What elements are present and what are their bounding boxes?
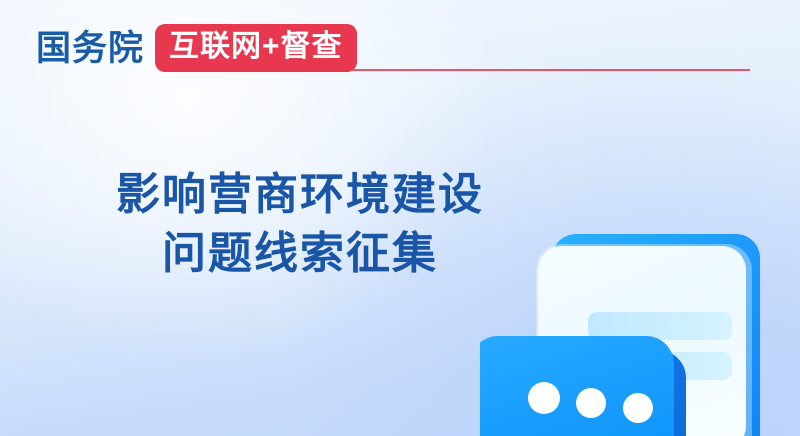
banner-header: 国务院 互联网+督查 bbox=[36, 24, 357, 72]
small-chat-bubble bbox=[480, 336, 686, 436]
message-line-1 bbox=[588, 312, 732, 340]
typing-dot-1 bbox=[528, 382, 560, 414]
organization-name: 国务院 bbox=[36, 31, 144, 66]
program-badge: 互联网+督查 bbox=[155, 24, 357, 72]
chat-bubbles-illustration bbox=[480, 200, 800, 436]
campaign-banner: 国务院 互联网+督查 影响营商环境建设 问题线索征集 bbox=[0, 0, 800, 436]
typing-dot-2 bbox=[576, 388, 606, 418]
header-divider-line bbox=[352, 69, 750, 71]
typing-dot-3 bbox=[623, 393, 653, 423]
